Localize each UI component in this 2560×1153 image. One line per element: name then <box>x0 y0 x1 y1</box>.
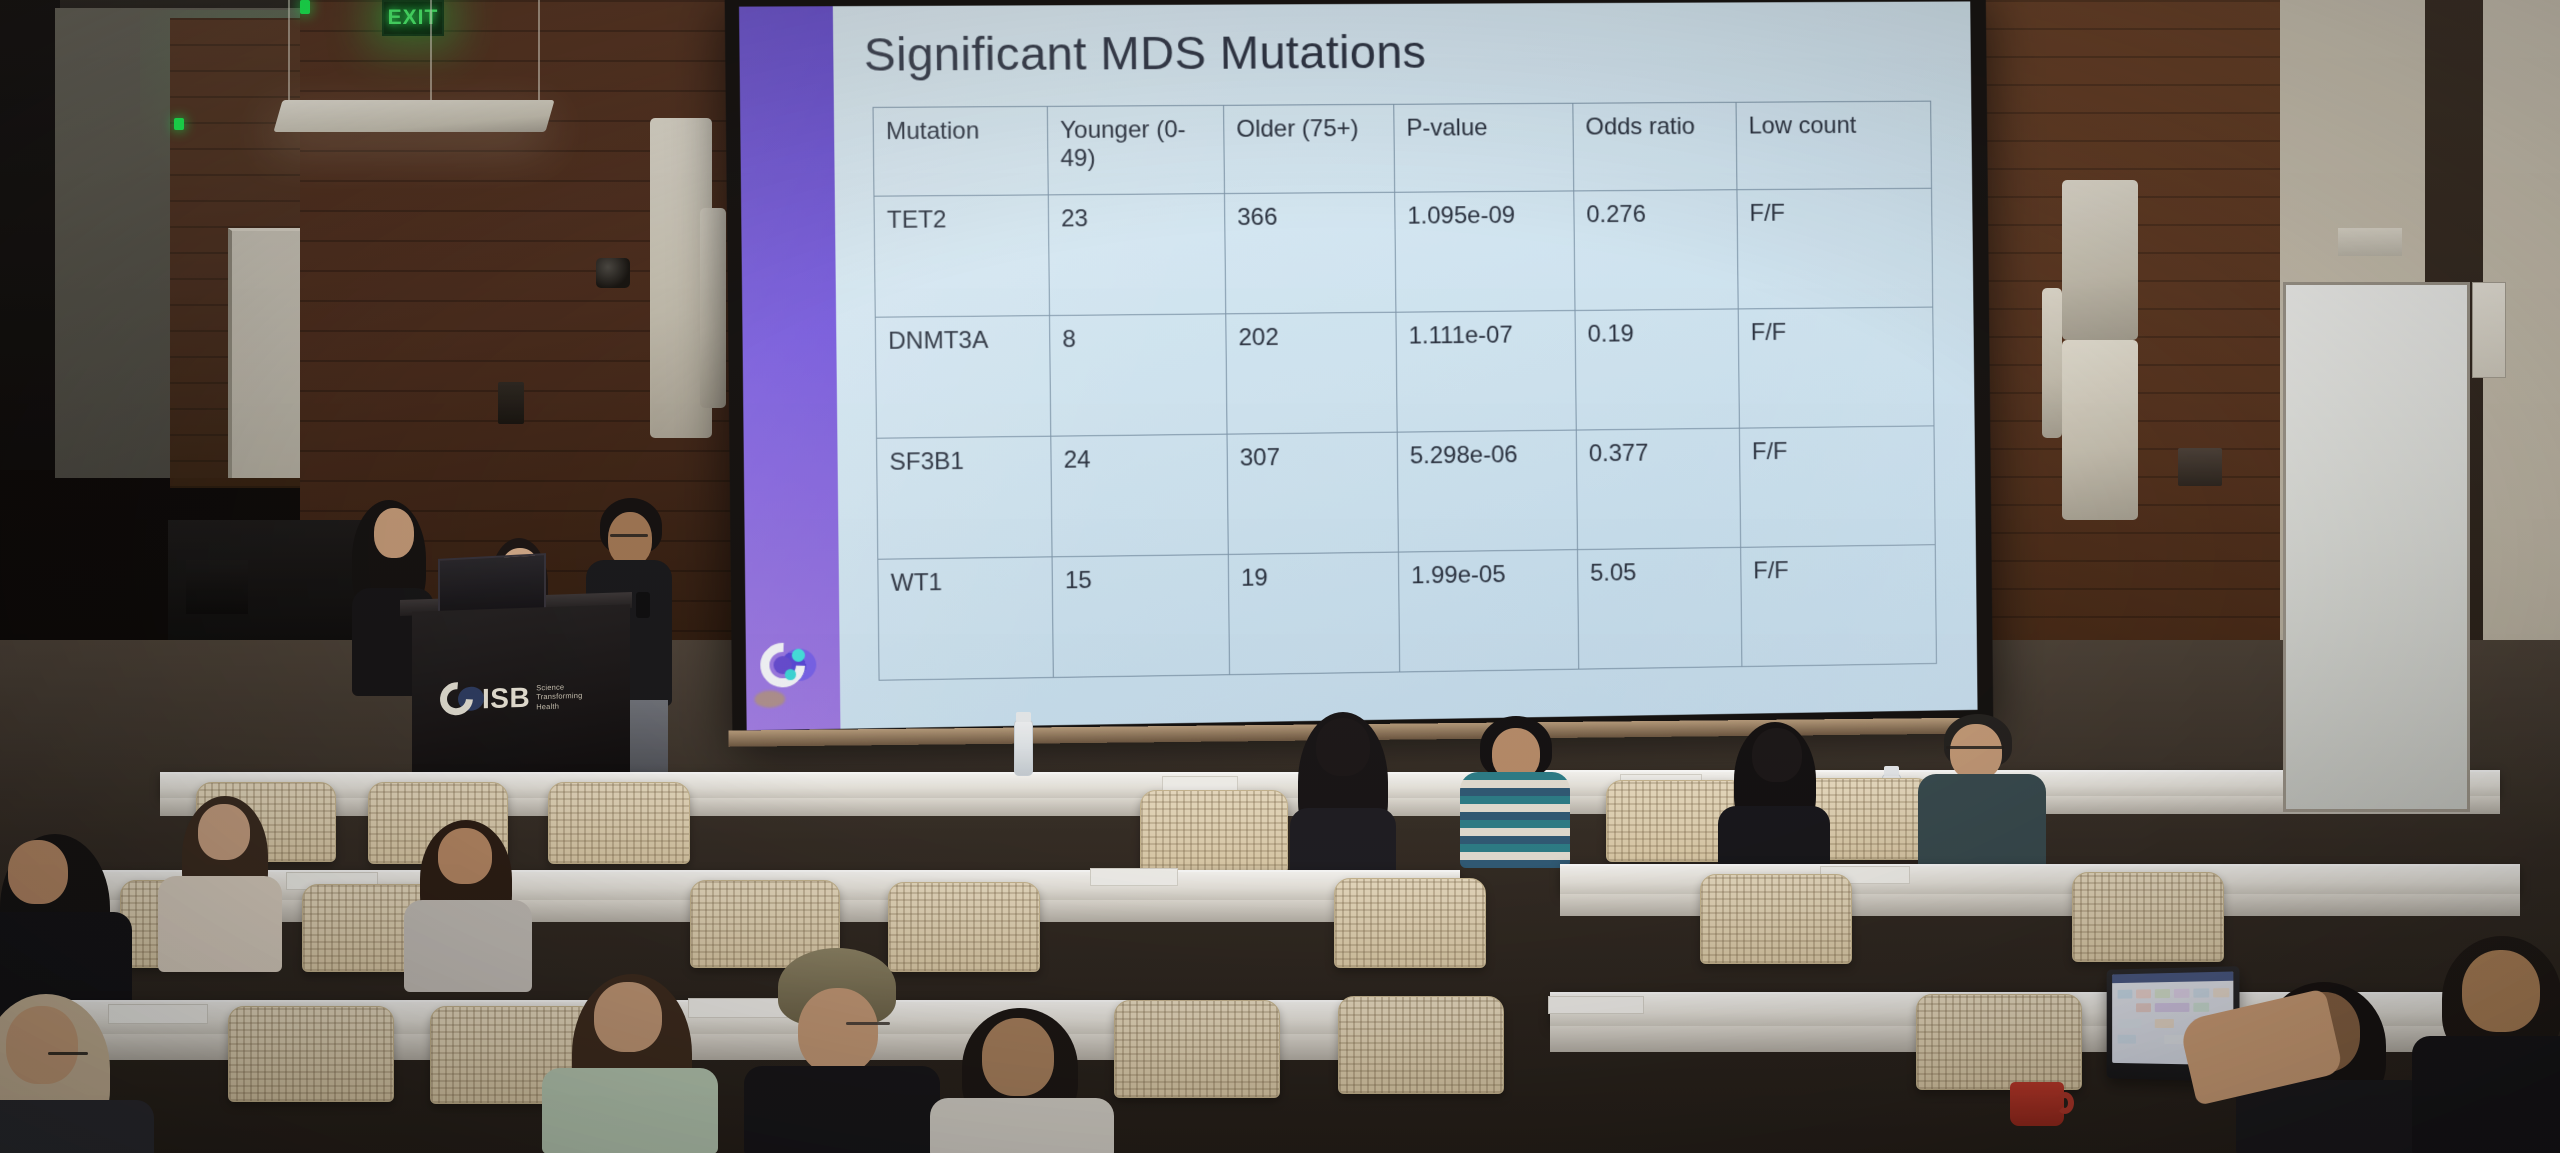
wall-left-dark-panel <box>0 0 60 470</box>
paper-sheet[interactable] <box>688 998 788 1018</box>
cell-odds-ratio: 0.19 <box>1575 309 1739 430</box>
wall-control-panel[interactable] <box>2178 448 2222 486</box>
paper-sheet[interactable] <box>1548 996 1644 1014</box>
isb-circle-logo-icon <box>760 642 822 689</box>
pendant-wire <box>288 0 290 108</box>
cell-older: 202 <box>1226 312 1397 434</box>
audience-area <box>0 700 2560 1153</box>
paper-sheet[interactable] <box>108 1004 208 1024</box>
bottle-cap <box>1884 766 1899 776</box>
column-header-older: Older (75+) <box>1224 104 1395 193</box>
table-row: SF3B1 24 307 5.298e-06 0.377 F/F <box>877 426 1936 559</box>
mutations-table: Mutation Younger (0-49) Older (75+) P-va… <box>873 101 1937 681</box>
slide-accent-sidebar <box>739 6 840 730</box>
ptz-camera <box>596 258 630 288</box>
chair[interactable] <box>2072 872 2224 962</box>
chair[interactable] <box>228 1006 394 1102</box>
column-header-odds-ratio: Odds ratio <box>1573 102 1737 191</box>
chair[interactable] <box>1140 790 1288 874</box>
ceiling-vent <box>2338 228 2402 256</box>
cell-low-count: F/F <box>1737 188 1933 309</box>
column-header-mutation: Mutation <box>873 106 1048 196</box>
cell-mutation: SF3B1 <box>877 436 1053 559</box>
cell-younger: 23 <box>1048 194 1226 316</box>
table-row: TET2 23 366 1.095e-09 0.276 F/F <box>874 188 1933 317</box>
wall-speaker-bracket <box>700 208 726 408</box>
chair[interactable] <box>1114 1000 1280 1098</box>
cell-older: 19 <box>1228 552 1399 675</box>
water-bottle[interactable] <box>1014 720 1033 776</box>
pendant-wire <box>538 0 540 102</box>
paper-sheet[interactable] <box>1090 868 1178 886</box>
mug-handle <box>2056 1092 2074 1114</box>
chair[interactable] <box>888 882 1040 972</box>
cell-younger: 8 <box>1050 314 1227 436</box>
pendant-wire <box>430 0 432 104</box>
cell-low-count: F/F <box>1739 426 1935 547</box>
cell-pvalue: 5.298e-06 <box>1397 430 1577 552</box>
cell-mutation: DNMT3A <box>875 316 1051 439</box>
lanyard-badge <box>636 592 650 618</box>
chair[interactable] <box>1916 994 2082 1090</box>
ceiling-green-led <box>300 0 310 14</box>
cell-older: 307 <box>1227 432 1398 554</box>
table-row: WT1 15 19 1.99e-05 5.05 F/F <box>878 545 1937 681</box>
cell-low-count: F/F <box>1738 307 1934 428</box>
column-header-low-count: Low count <box>1736 101 1932 190</box>
presentation-slide: Significant MDS Mutations Mutation Young… <box>739 1 1978 730</box>
cell-pvalue: 1.111e-07 <box>1396 310 1576 432</box>
column-header-younger: Younger (0-49) <box>1047 105 1224 195</box>
bottle-cap <box>1016 712 1031 722</box>
column-header-pvalue: P-value <box>1394 103 1574 192</box>
cell-odds-ratio: 0.377 <box>1576 428 1740 549</box>
cell-odds-ratio: 5.05 <box>1577 547 1741 669</box>
cell-pvalue: 1.99e-05 <box>1398 550 1578 672</box>
wall-outlet-plate[interactable] <box>498 382 524 424</box>
chair[interactable] <box>1338 996 1504 1094</box>
cell-mutation: WT1 <box>878 557 1054 680</box>
slide-title: Significant MDS Mutations <box>864 24 1427 82</box>
lobby-doorway[interactable] <box>2283 282 2470 812</box>
cell-low-count: F/F <box>1741 545 1937 667</box>
wall-speaker-bracket <box>2042 288 2062 438</box>
laptop-browser-bar <box>2112 971 2233 983</box>
wall-speaker <box>2062 180 2138 340</box>
chair[interactable] <box>1700 874 1852 964</box>
table-row: DNMT3A 8 202 1.111e-07 0.19 F/F <box>875 307 1934 438</box>
pendant-green-led <box>174 118 184 130</box>
wall-speaker <box>2062 340 2138 520</box>
cell-odds-ratio: 0.276 <box>1574 190 1738 311</box>
table-header-row: Mutation Younger (0-49) Older (75+) P-va… <box>873 101 1931 196</box>
exit-sign: EXIT <box>382 0 444 36</box>
cell-pvalue: 1.095e-09 <box>1395 191 1575 312</box>
wall-artwork <box>2472 282 2506 378</box>
cell-younger: 24 <box>1051 434 1228 557</box>
lecture-hall-scene: EXIT Significant MDS <box>0 0 2560 1153</box>
projection-screen: Significant MDS Mutations Mutation Young… <box>725 0 1994 745</box>
equipment-box <box>186 560 248 614</box>
cell-older: 366 <box>1224 192 1395 314</box>
pendant-light <box>273 100 554 132</box>
cell-mutation: TET2 <box>874 195 1050 317</box>
chair[interactable] <box>1334 878 1486 968</box>
cell-younger: 15 <box>1052 554 1229 677</box>
chair[interactable] <box>548 782 690 864</box>
